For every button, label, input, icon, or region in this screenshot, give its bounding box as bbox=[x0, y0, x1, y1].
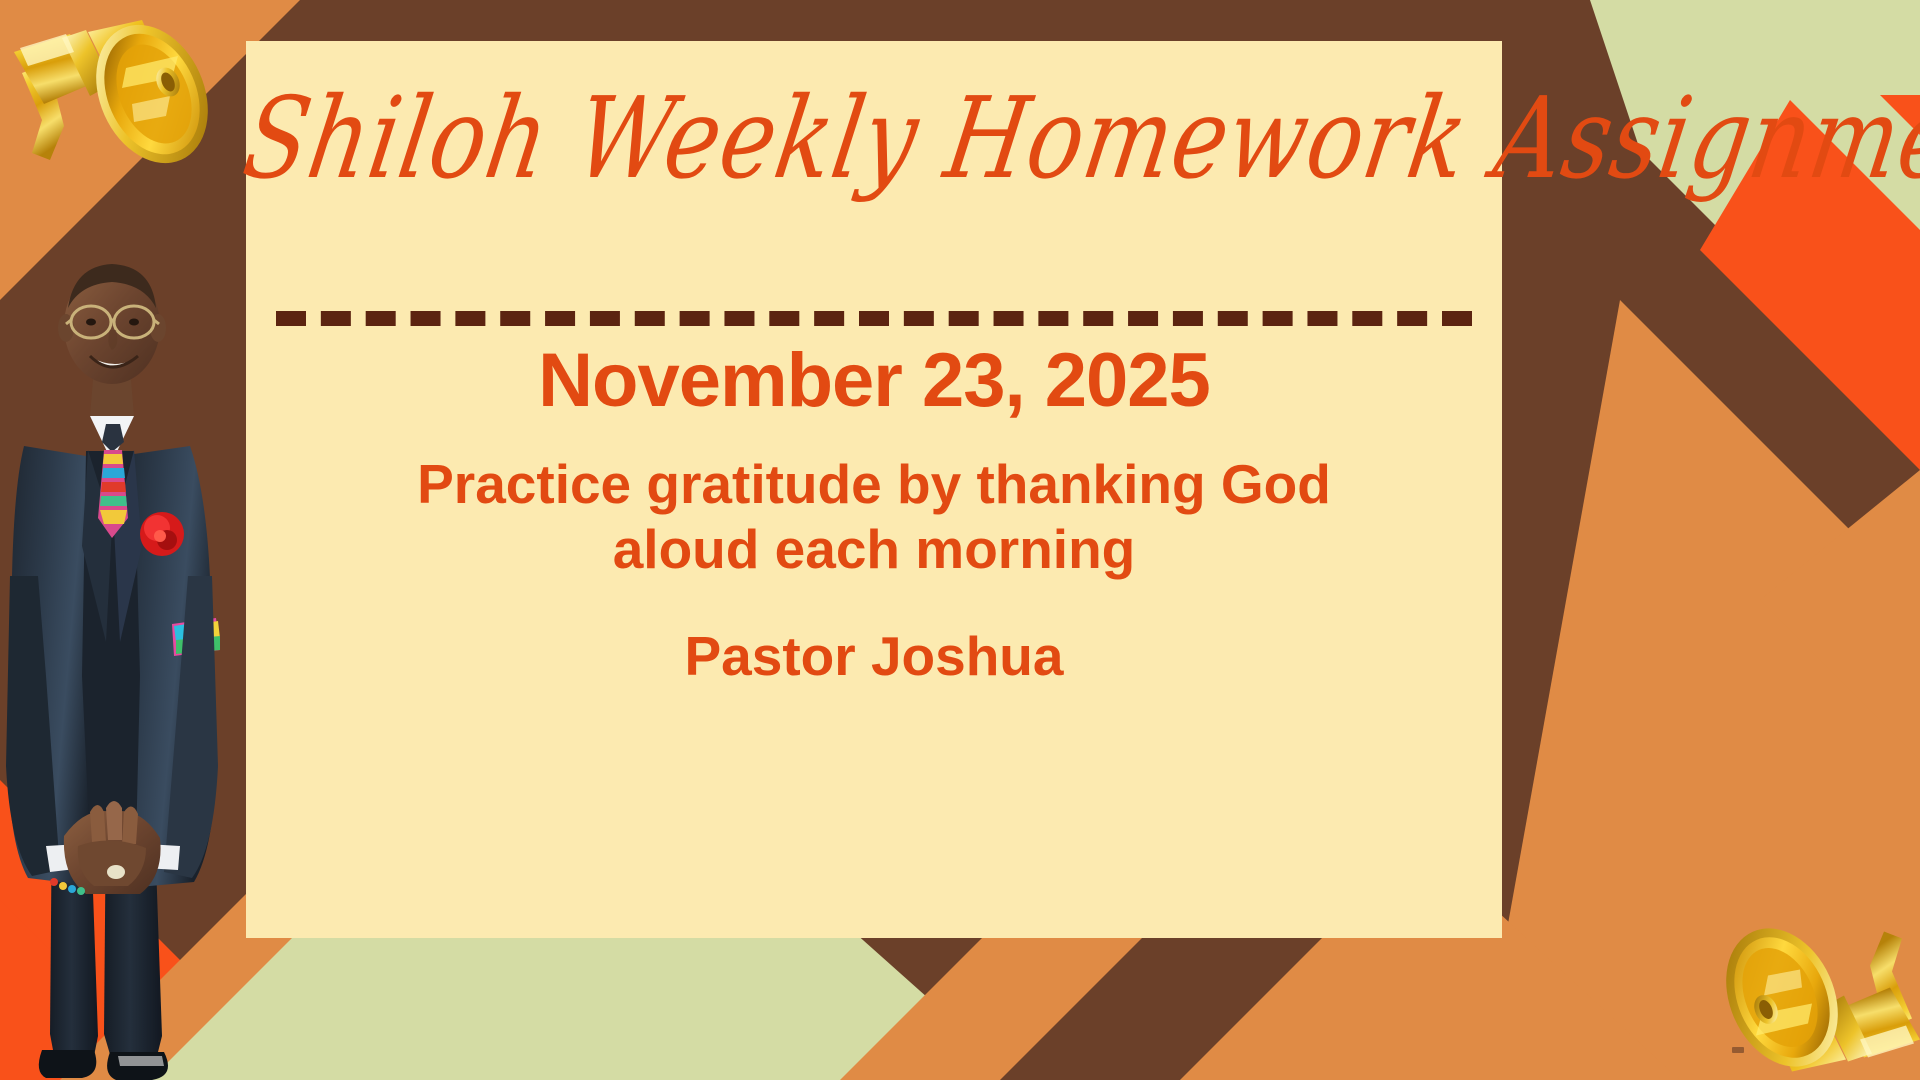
pastor-eye-left bbox=[86, 319, 96, 326]
announcement-card: Shiloh Weekly Homework Assignment Novemb… bbox=[246, 41, 1502, 938]
assignment-date: November 23, 2025 bbox=[246, 337, 1502, 424]
assignment-line-2: aloud each morning bbox=[246, 517, 1502, 582]
pastor-eye-right bbox=[129, 319, 139, 326]
pastor-tie-stripe5 bbox=[100, 510, 127, 524]
assignment-line-1: Practice gratitude by thanking God bbox=[246, 452, 1502, 517]
megaphone-tl-group bbox=[14, 8, 229, 181]
megaphone-icon bbox=[1692, 871, 1920, 1080]
small-artifact-mark bbox=[1732, 1047, 1744, 1053]
pastor-portrait-svg bbox=[0, 246, 239, 1080]
pastor-ring bbox=[107, 865, 125, 879]
pastor-shoe-left bbox=[39, 1050, 96, 1078]
megaphone-top-left-svg bbox=[0, 8, 242, 218]
assignment-text: Practice gratitude by thanking God aloud… bbox=[246, 452, 1502, 582]
pastor-tie-stripe2 bbox=[102, 468, 125, 478]
pastor-tie-stripe1 bbox=[103, 454, 123, 464]
pastor-tie-stripe4 bbox=[100, 496, 127, 506]
megaphone-br-group bbox=[1705, 911, 1920, 1080]
megaphone-bottom-right-svg bbox=[1692, 871, 1920, 1080]
pastor-tie-stripe3 bbox=[101, 482, 126, 492]
megaphone-icon bbox=[0, 8, 242, 218]
dashed-divider bbox=[276, 311, 1472, 326]
pastor-boutonniere bbox=[140, 512, 184, 556]
pastor-portrait bbox=[0, 246, 239, 1080]
signature-name: Pastor Joshua bbox=[246, 624, 1502, 688]
pastor-shoe-detail bbox=[118, 1056, 164, 1066]
page-title: Shiloh Weekly Homework Assignment bbox=[237, 83, 1511, 195]
